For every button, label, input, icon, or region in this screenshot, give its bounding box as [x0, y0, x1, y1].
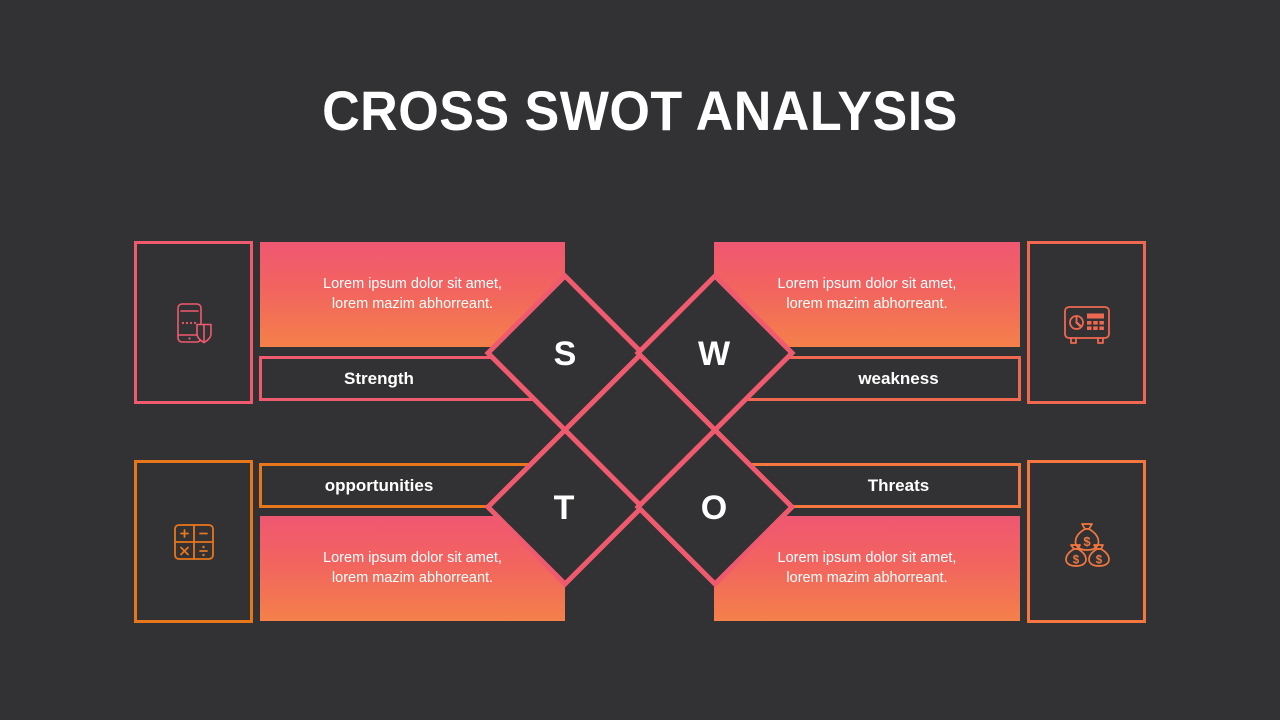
svg-text:$: $: [1095, 554, 1102, 566]
calculator-operations-icon: [168, 516, 220, 568]
icon-frame-strength[interactable]: [134, 241, 253, 404]
label-text-threats: Threats: [717, 476, 1018, 496]
label-text-strength: Strength: [262, 369, 562, 389]
description-text-opportunities: Lorem ipsum dolor sit amet, lorem mazim …: [323, 549, 502, 587]
description-panel-threats: Lorem ipsum dolor sit amet, lorem mazim …: [714, 516, 1020, 621]
icon-frame-opportunities[interactable]: [134, 460, 253, 623]
mobile-shield-icon: [167, 296, 221, 350]
label-bar-opportunities[interactable]: opportunities: [259, 463, 565, 508]
svg-text:$: $: [1083, 534, 1091, 549]
description-panel-opportunities: Lorem ipsum dolor sit amet, lorem mazim …: [260, 516, 565, 621]
safe-vault-icon: [1059, 295, 1115, 351]
label-text-opportunities: opportunities: [262, 476, 562, 496]
description-text-threats: Lorem ipsum dolor sit amet, lorem mazim …: [778, 549, 957, 587]
money-bags-icon: $ $ $: [1059, 514, 1115, 570]
page-title: CROSS SWOT ANALYSIS: [45, 78, 1235, 143]
label-bar-threats[interactable]: Threats: [714, 463, 1021, 508]
label-bar-weakness[interactable]: weakness: [714, 356, 1021, 401]
icon-frame-threats[interactable]: $ $ $: [1027, 460, 1146, 623]
svg-text:$: $: [1072, 554, 1079, 566]
description-text-strength: Lorem ipsum dolor sit amet, lorem mazim …: [323, 275, 502, 313]
description-panel-strength: Lorem ipsum dolor sit amet, lorem mazim …: [260, 242, 565, 347]
description-text-weakness: Lorem ipsum dolor sit amet, lorem mazim …: [778, 275, 957, 313]
description-panel-weakness: Lorem ipsum dolor sit amet, lorem mazim …: [714, 242, 1020, 347]
label-text-weakness: weakness: [717, 369, 1018, 389]
swot-slide: CROSS SWOT ANALYSIS Lorem ipsum dolor si…: [0, 0, 1280, 720]
icon-frame-weakness[interactable]: [1027, 241, 1146, 404]
label-bar-strength[interactable]: Strength: [259, 356, 565, 401]
